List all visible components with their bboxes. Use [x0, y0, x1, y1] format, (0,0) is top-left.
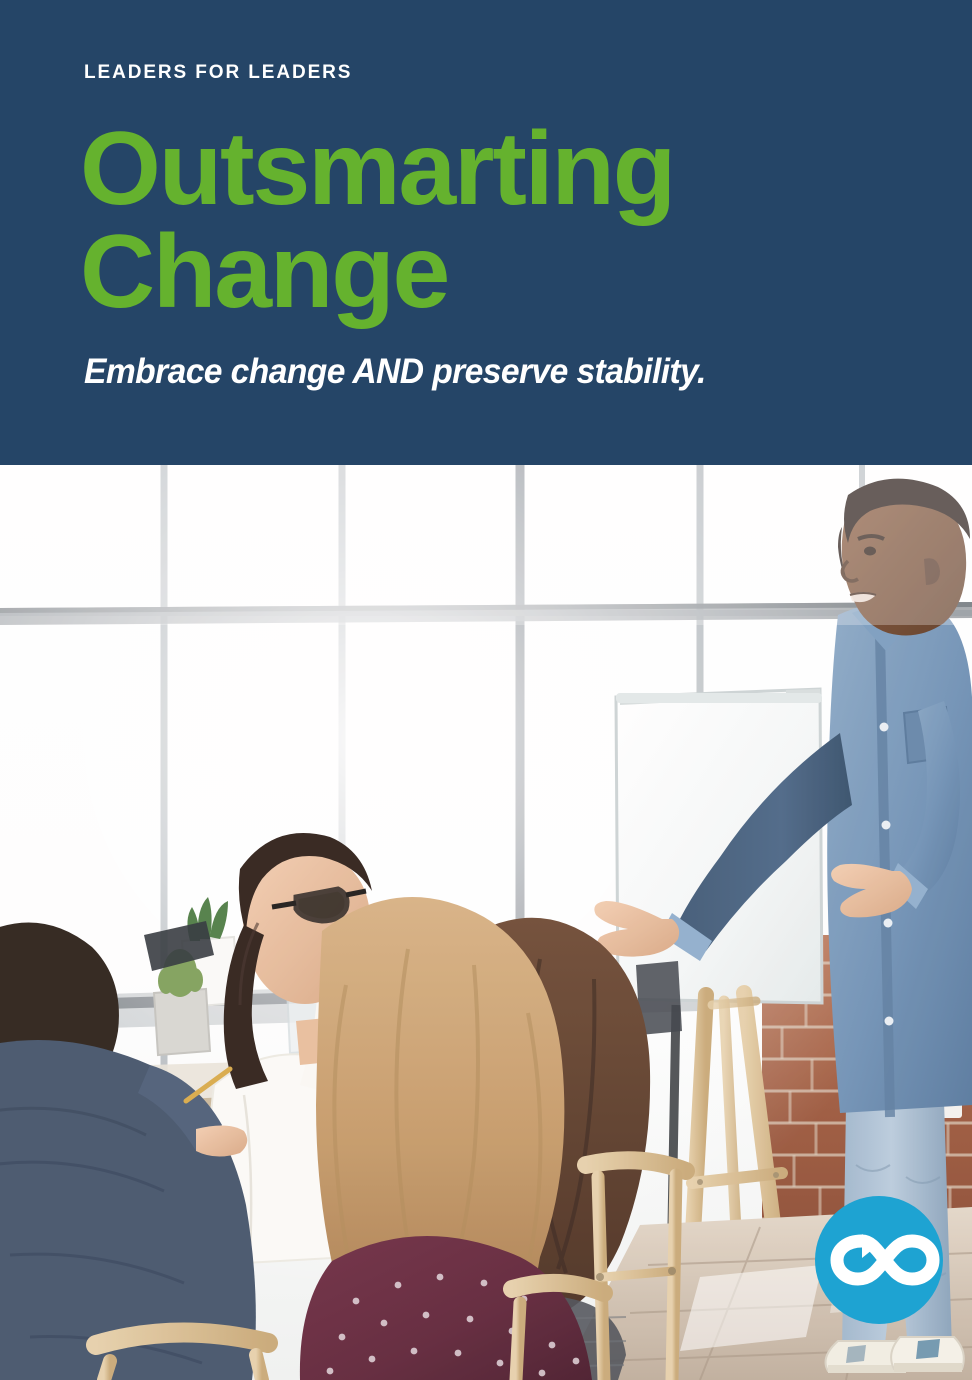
infinity-loop-logo[interactable]: [815, 1196, 943, 1324]
cover-page: LEADERS FOR LEADERS Outsmarting Change E…: [0, 0, 972, 1380]
header-band: LEADERS FOR LEADERS Outsmarting Change E…: [0, 0, 972, 465]
page-title: Outsmarting Change: [80, 118, 880, 324]
subtitle: Embrace change AND preserve stability.: [84, 352, 706, 392]
infinity-loop-mark: [815, 1196, 943, 1324]
eyebrow-label: LEADERS FOR LEADERS: [84, 62, 352, 85]
